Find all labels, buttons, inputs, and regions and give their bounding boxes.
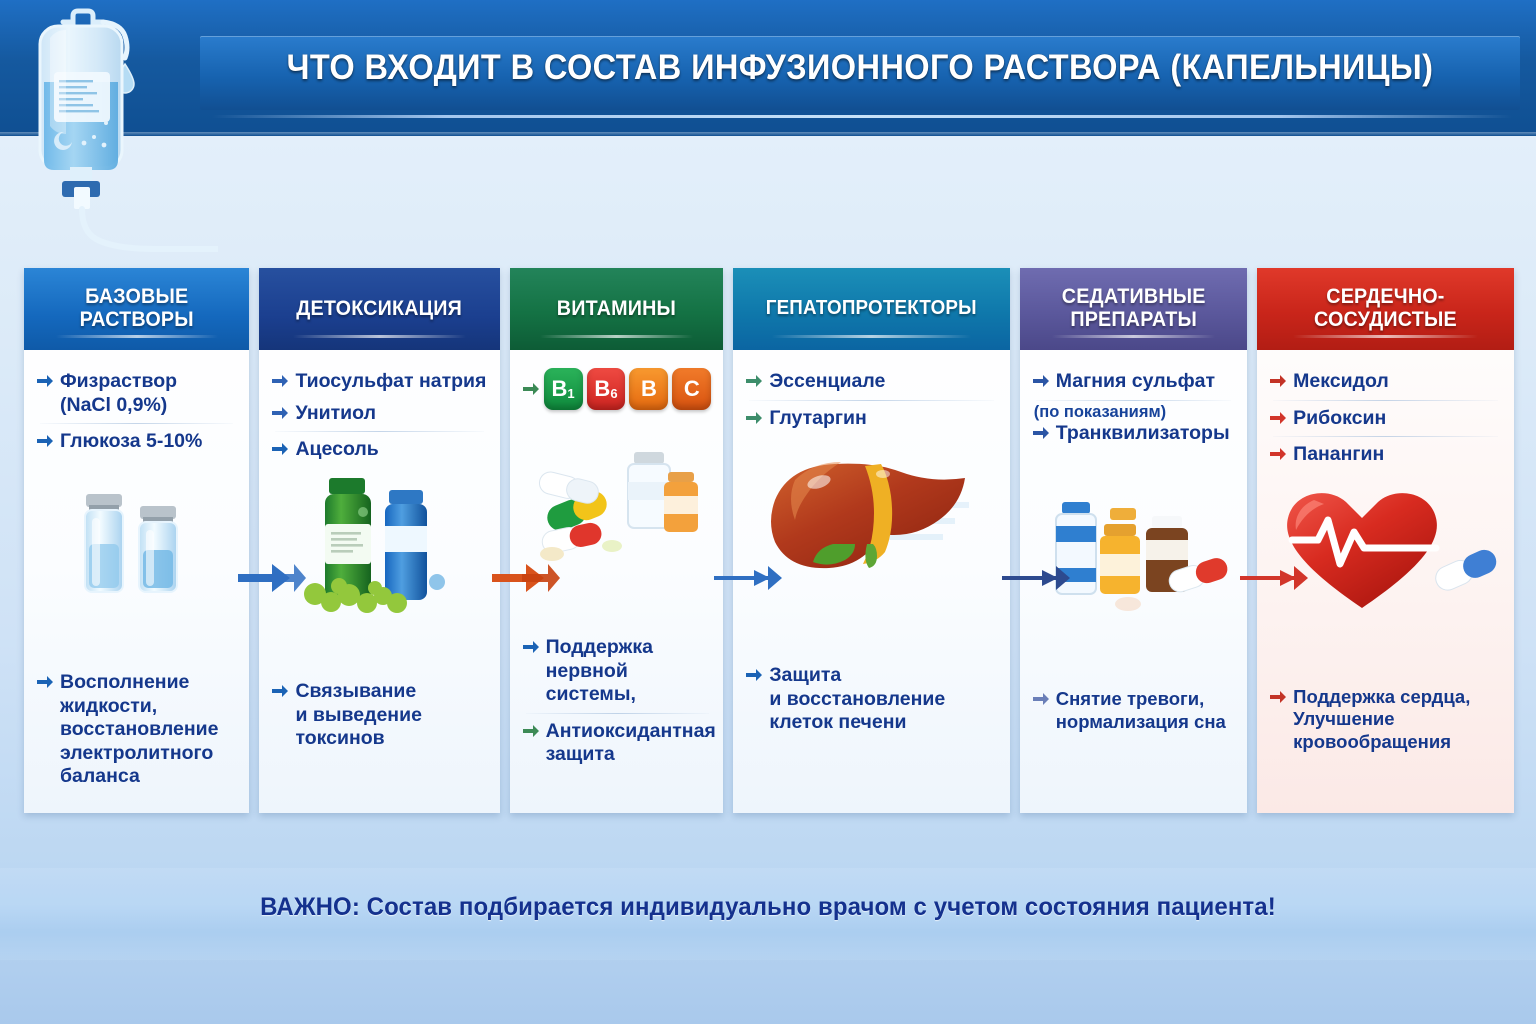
vitamin-badge-label: C bbox=[684, 378, 700, 400]
effect-item: Снятие тревоги, нормализация сна bbox=[1032, 684, 1237, 737]
column-title: ДЕТОКСИКАЦИЯ bbox=[297, 298, 463, 321]
arrow-right-icon bbox=[745, 410, 763, 426]
list-item-label: Глутаргин bbox=[769, 407, 867, 431]
column-title: ВИТАМИНЫ bbox=[557, 298, 676, 321]
arrow-right-icon bbox=[745, 373, 763, 389]
effect-item: Восполнение жидкости, восстановление эле… bbox=[36, 667, 239, 793]
column-sedatives[interactable]: СЕДАТИВНЫЕ ПРЕПАРАТЫ Магния сульфат (по … bbox=[1020, 268, 1247, 813]
column-header-sedatives: СЕДАТИВНЫЕ ПРЕПАРАТЫ bbox=[1020, 268, 1247, 350]
column-title: ГЕПАТОПРОТЕКТОРЫ bbox=[766, 298, 977, 320]
list-item[interactable]: Транквилизаторы bbox=[1032, 422, 1235, 450]
footer-note: ВАЖНО: Состав подбирается индивидуально … bbox=[31, 893, 1506, 922]
vitamin-badge-label: B bbox=[552, 378, 568, 400]
divider bbox=[749, 400, 993, 401]
column-vitamins[interactable]: ВИТАМИНЫ B1 B6 B C bbox=[510, 268, 724, 813]
arrow-right-icon bbox=[36, 674, 54, 690]
divider bbox=[1273, 436, 1498, 437]
list-item[interactable]: Мексидол bbox=[1269, 366, 1502, 398]
column-effect-cardiovascular: Поддержка сердца, Улучшение кровообращен… bbox=[1269, 682, 1504, 757]
list-item[interactable]: Тиосульфат натрия bbox=[271, 366, 487, 398]
arrow-right-icon bbox=[1269, 446, 1287, 462]
indication-note: (по показаниям) bbox=[1032, 403, 1235, 422]
divider bbox=[1036, 400, 1231, 401]
column-effect-hepatoprotectors: Защита и восстановление клеток печени bbox=[745, 660, 999, 739]
arrow-right-icon bbox=[745, 667, 763, 683]
column-title: БАЗОВЫЕ РАСТВОРЫ bbox=[36, 286, 237, 331]
effect-label: Поддержка сердца, Улучшение кровообращен… bbox=[1293, 686, 1470, 753]
divider bbox=[526, 713, 710, 714]
vitamin-badge-label: B bbox=[594, 378, 610, 400]
page-title: ЧТО ВХОДИТ В СОСТАВ ИНФУЗИОННОГО РАСТВОР… bbox=[246, 48, 1474, 88]
divider bbox=[40, 423, 233, 424]
arrow-right-icon bbox=[36, 373, 54, 389]
list-item[interactable]: Панангин bbox=[1269, 439, 1502, 471]
effect-item: Поддержка сердца, Улучшение кровообращен… bbox=[1269, 682, 1504, 757]
list-item[interactable]: Рибоксин bbox=[1269, 403, 1502, 435]
arrow-right-icon bbox=[1032, 373, 1050, 389]
capsules-and-pill-bottles-icon bbox=[510, 422, 724, 572]
arrow-sedatives-to-cardio bbox=[1240, 560, 1310, 604]
list-item-label: Ацесоль bbox=[295, 438, 378, 462]
column-hepatoprotectors[interactable]: ГЕПАТОПРОТЕКТОРЫ Эссенциале Глутаргин bbox=[733, 268, 1009, 813]
list-item-label: Транквилизаторы bbox=[1056, 422, 1230, 446]
arrow-right-icon bbox=[271, 683, 289, 699]
column-detoxification[interactable]: ДЕТОКСИКАЦИЯ Тиосульфат натрия Унитиол А… bbox=[259, 268, 499, 813]
arrow-right-icon bbox=[36, 433, 54, 449]
column-header-cardiovascular: СЕРДЕЧНО- СОСУДИСТЫЕ bbox=[1257, 268, 1514, 350]
vitamin-badge-b6[interactable]: B6 bbox=[587, 368, 626, 410]
column-title: СЕРДЕЧНО- СОСУДИСТЫЕ bbox=[1271, 286, 1501, 331]
column-header-hepatoprotectors: ГЕПАТОПРОТЕКТОРЫ bbox=[733, 268, 1009, 350]
list-item-label: Глюкоза 5-10% bbox=[60, 430, 202, 454]
list-item[interactable]: Глутаргин bbox=[745, 403, 997, 435]
effect-label: Связывание и выведение токсинов bbox=[295, 680, 421, 751]
arrow-right-icon bbox=[1032, 691, 1050, 707]
effect-item: Поддержка нервной системы, bbox=[522, 632, 714, 711]
list-item-label: Рибоксин bbox=[1293, 407, 1386, 431]
list-item-label: Магния сульфат bbox=[1056, 370, 1215, 394]
column-effects-vitamins: Поддержка нервной системы, Антиоксидантн… bbox=[522, 632, 714, 771]
column-header-detoxification: ДЕТОКСИКАЦИЯ bbox=[259, 268, 499, 350]
list-item-label: Унитиол bbox=[295, 402, 376, 426]
list-item-label: Эссенциале bbox=[769, 370, 885, 394]
effect-item: Антиоксидантная защита bbox=[522, 716, 714, 771]
list-item[interactable]: Ацесоль bbox=[271, 434, 487, 466]
arrow-right-icon bbox=[1269, 373, 1287, 389]
column-effect-base-solutions: Восполнение жидкости, восстановление эле… bbox=[36, 667, 239, 793]
list-item[interactable]: Унитиол bbox=[271, 398, 487, 430]
list-item[interactable]: Физраствор (NaCl 0,9%) bbox=[36, 366, 237, 421]
list-item-label: Мексидол bbox=[1293, 370, 1389, 394]
column-header-base-solutions: БАЗОВЫЕ РАСТВОРЫ bbox=[24, 268, 249, 350]
column-effect-detoxification: Связывание и выведение токсинов bbox=[271, 676, 489, 755]
effect-label: Поддержка нервной системы, bbox=[546, 636, 653, 707]
iv-drip-bag-icon bbox=[18, 4, 218, 274]
arrow-right-icon bbox=[1032, 425, 1050, 441]
divider bbox=[1273, 400, 1498, 401]
column-cardiovascular[interactable]: СЕРДЕЧНО- СОСУДИСТЫЕ Мексидол Рибоксин П… bbox=[1257, 268, 1514, 813]
column-title: СЕДАТИВНЫЕ ПРЕПАРАТЫ bbox=[1032, 286, 1234, 331]
vitamin-badge-b1[interactable]: B1 bbox=[544, 368, 583, 410]
arrow-right-icon bbox=[271, 405, 289, 421]
column-body-base-solutions: Физраствор (NaCl 0,9%) Глюкоза 5-10% bbox=[24, 350, 249, 813]
effect-label: Защита и восстановление клеток печени bbox=[769, 664, 945, 735]
arrow-right-icon bbox=[271, 441, 289, 457]
arrow-detox-to-vitamins bbox=[492, 560, 562, 604]
vitamin-badge-sub: 6 bbox=[610, 387, 617, 400]
list-item[interactable]: Магния сульфат bbox=[1032, 366, 1235, 398]
column-header-vitamins: ВИТАМИНЫ bbox=[510, 268, 724, 350]
arrow-vitamins-to-hepato bbox=[714, 560, 784, 604]
vitamin-badge-b12[interactable]: B bbox=[629, 368, 668, 410]
column-effect-sedatives: Снятие тревоги, нормализация сна bbox=[1032, 684, 1237, 737]
effect-label: Восполнение жидкости, восстановление эле… bbox=[60, 671, 218, 789]
list-item-label: Тиосульфат натрия bbox=[295, 370, 486, 394]
list-item-label: Панангин bbox=[1293, 443, 1384, 467]
effect-item: Связывание и выведение токсинов bbox=[271, 676, 489, 755]
effect-label: Антиоксидантная защита bbox=[546, 720, 716, 767]
assorted-medicine-bottles-icon bbox=[1020, 478, 1247, 628]
header-underline-rule bbox=[212, 115, 1512, 118]
vitamin-badge-c[interactable]: C bbox=[672, 368, 711, 410]
arrow-right-icon bbox=[522, 723, 540, 739]
arrow-right-icon bbox=[522, 381, 540, 397]
vitamin-badge-label: B bbox=[641, 378, 657, 400]
effect-item: Защита и восстановление клеток печени bbox=[745, 660, 999, 739]
two-glass-vials-icon bbox=[24, 482, 249, 602]
arrow-right-icon bbox=[522, 639, 540, 655]
arrow-base-to-detox bbox=[238, 560, 308, 604]
list-item[interactable]: Эссенциале bbox=[745, 366, 997, 398]
arrow-hepato-to-sedatives bbox=[1002, 560, 1072, 604]
divider bbox=[275, 431, 483, 432]
list-item-label: Физраствор (NaCl 0,9%) bbox=[60, 370, 177, 417]
arrow-right-icon bbox=[1269, 410, 1287, 426]
column-base-solutions[interactable]: БАЗОВЫЕ РАСТВОРЫ Физраствор (NaCl 0,9%) … bbox=[24, 268, 249, 813]
category-columns: БАЗОВЫЕ РАСТВОРЫ Физраствор (NaCl 0,9%) … bbox=[24, 268, 1514, 828]
arrow-right-icon bbox=[1269, 689, 1287, 705]
vitamin-badge-sub: 1 bbox=[567, 387, 574, 400]
arrow-right-icon bbox=[271, 373, 289, 389]
vitamin-badge-row: B1 B6 B C bbox=[522, 366, 712, 410]
list-item[interactable]: Глюкоза 5-10% bbox=[36, 426, 237, 458]
effect-label: Снятие тревоги, нормализация сна bbox=[1056, 688, 1226, 733]
